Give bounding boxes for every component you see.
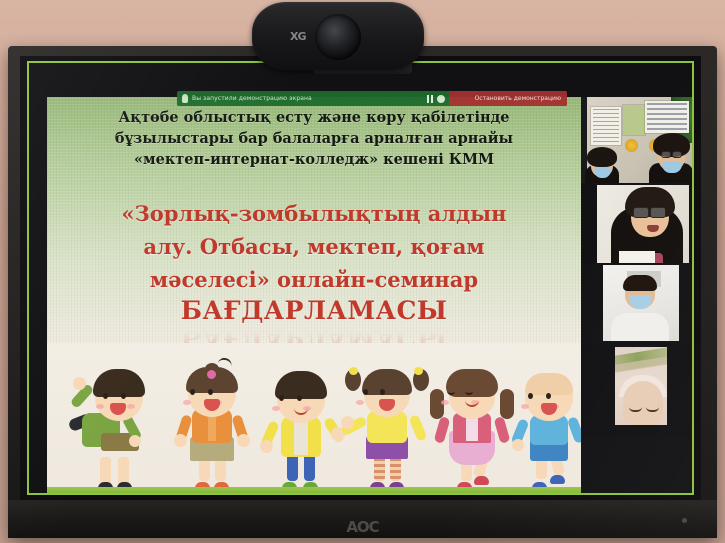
cheek [356,400,364,405]
legs [286,453,316,487]
cheek [127,404,135,409]
participant-hair [623,275,657,291]
poster [623,105,645,135]
glasses-icon [633,207,649,218]
kid-girl-yellow-purple [347,347,427,487]
room-background: XG Вы запустили демонстрацию экрана [0,0,725,543]
kids-illustration [47,343,581,487]
pause-icon[interactable] [427,95,433,103]
share-status-text: Вы запустили демонстрацию экрана [192,95,312,102]
slide-title-line-2: алу. Отбасы, мектеп, қоғам [65,230,563,263]
kid-boy-green-shirt [71,353,163,487]
kid-girl-pink-dress [433,349,511,487]
legs [197,457,227,487]
paper-document [619,251,655,263]
screen-frame: Вы запустили демонстрацию экрана Останов… [20,56,701,500]
eye [190,389,195,395]
monitor-brand-logo: AOC [346,518,378,536]
kid-girl-orange-cardigan [173,347,251,487]
leg [304,453,315,481]
shared-slide: Ақтөбе облыстық есту және көру қабілетін… [47,97,581,495]
eye [380,389,385,395]
participant-filmstrip[interactable] [581,97,694,495]
glasses-icon [661,151,671,158]
hair [525,373,573,395]
power-led-icon [682,518,687,523]
shoe [474,476,489,485]
participant-tile-1[interactable] [581,97,694,183]
hair [93,369,145,397]
eye [546,393,551,399]
monitor-bottom-bezel: AOC [8,500,717,538]
share-status-group: Вы запустили демонстрацию экрана [177,91,315,106]
slide-heading: Ақтөбе облыстық есту және көру қабілетін… [63,107,565,170]
eye [363,389,368,395]
participant-face [623,381,663,425]
legs [372,455,402,487]
leg [100,457,111,485]
poster [591,107,621,145]
eye [279,395,284,401]
slide-heading-line-2: бұзылыстары бар балаларға арналған арнай… [63,128,565,149]
glasses-icon [650,207,666,218]
cheek [521,404,529,409]
slide-title-line-3: мәселесі» онлайн-семинар [65,263,563,296]
flower-drawing [625,139,638,152]
slide-heading-line-3: «мектеп-интернат-колледж» кешені КММ [63,149,565,170]
eye [208,389,213,395]
participant-person-left [585,143,619,183]
participant-tile-4-active-speaker[interactable] [581,343,694,437]
arm [408,414,427,442]
annotate-icon[interactable] [437,95,445,103]
stop-share-button[interactable]: Остановить демонстрацию [449,91,567,106]
arm [494,416,511,444]
webcam-lens-icon [315,14,361,60]
glasses-icon [672,151,682,158]
cheek [272,406,280,411]
kids-illustration-band [47,343,581,495]
grass-strip [47,487,581,495]
kid-boy-yellow-shirt [261,347,341,487]
participant-tile-3[interactable] [581,265,694,341]
arm [567,416,581,444]
slide-title: «Зорлық-зомбылықтың алдын алу. Отбасы, м… [65,197,563,352]
slide-heading-line-1: Ақтөбе облыстық есту және көру қабілетін… [63,107,565,128]
arm [434,416,451,444]
microphone-icon[interactable] [182,94,188,103]
shoe [550,475,565,484]
cheek [441,400,449,405]
slide-title-line-1: «Зорлық-зомбылықтың алдын [65,197,563,230]
webcam-device: XG [252,2,424,70]
eye [297,395,302,401]
poster [645,101,689,133]
kid-boy-blue-shirt [513,351,581,487]
screen-share-border: Вы запустили демонстрацию экрана Останов… [27,61,694,495]
leg [118,457,129,485]
eye [103,393,108,399]
eye [121,393,126,399]
cheek [96,404,104,409]
cheek [183,400,191,405]
participant-torso [611,313,669,341]
participant-tile-2[interactable] [581,185,694,263]
participant-tile-partial[interactable] [581,439,694,495]
share-controls-group[interactable] [423,91,449,106]
zoom-share-toolbar[interactable]: Вы запустили демонстрацию экрана Останов… [177,91,567,106]
webcam-brand-label: XG [290,30,318,43]
hair [362,369,412,395]
screen: Вы запустили демонстрацию экрана Останов… [29,63,692,493]
eye [528,393,533,399]
participant-person-right [649,131,693,183]
monitor: Вы запустили демонстрацию экрана Останов… [8,46,717,538]
leg [287,453,298,481]
